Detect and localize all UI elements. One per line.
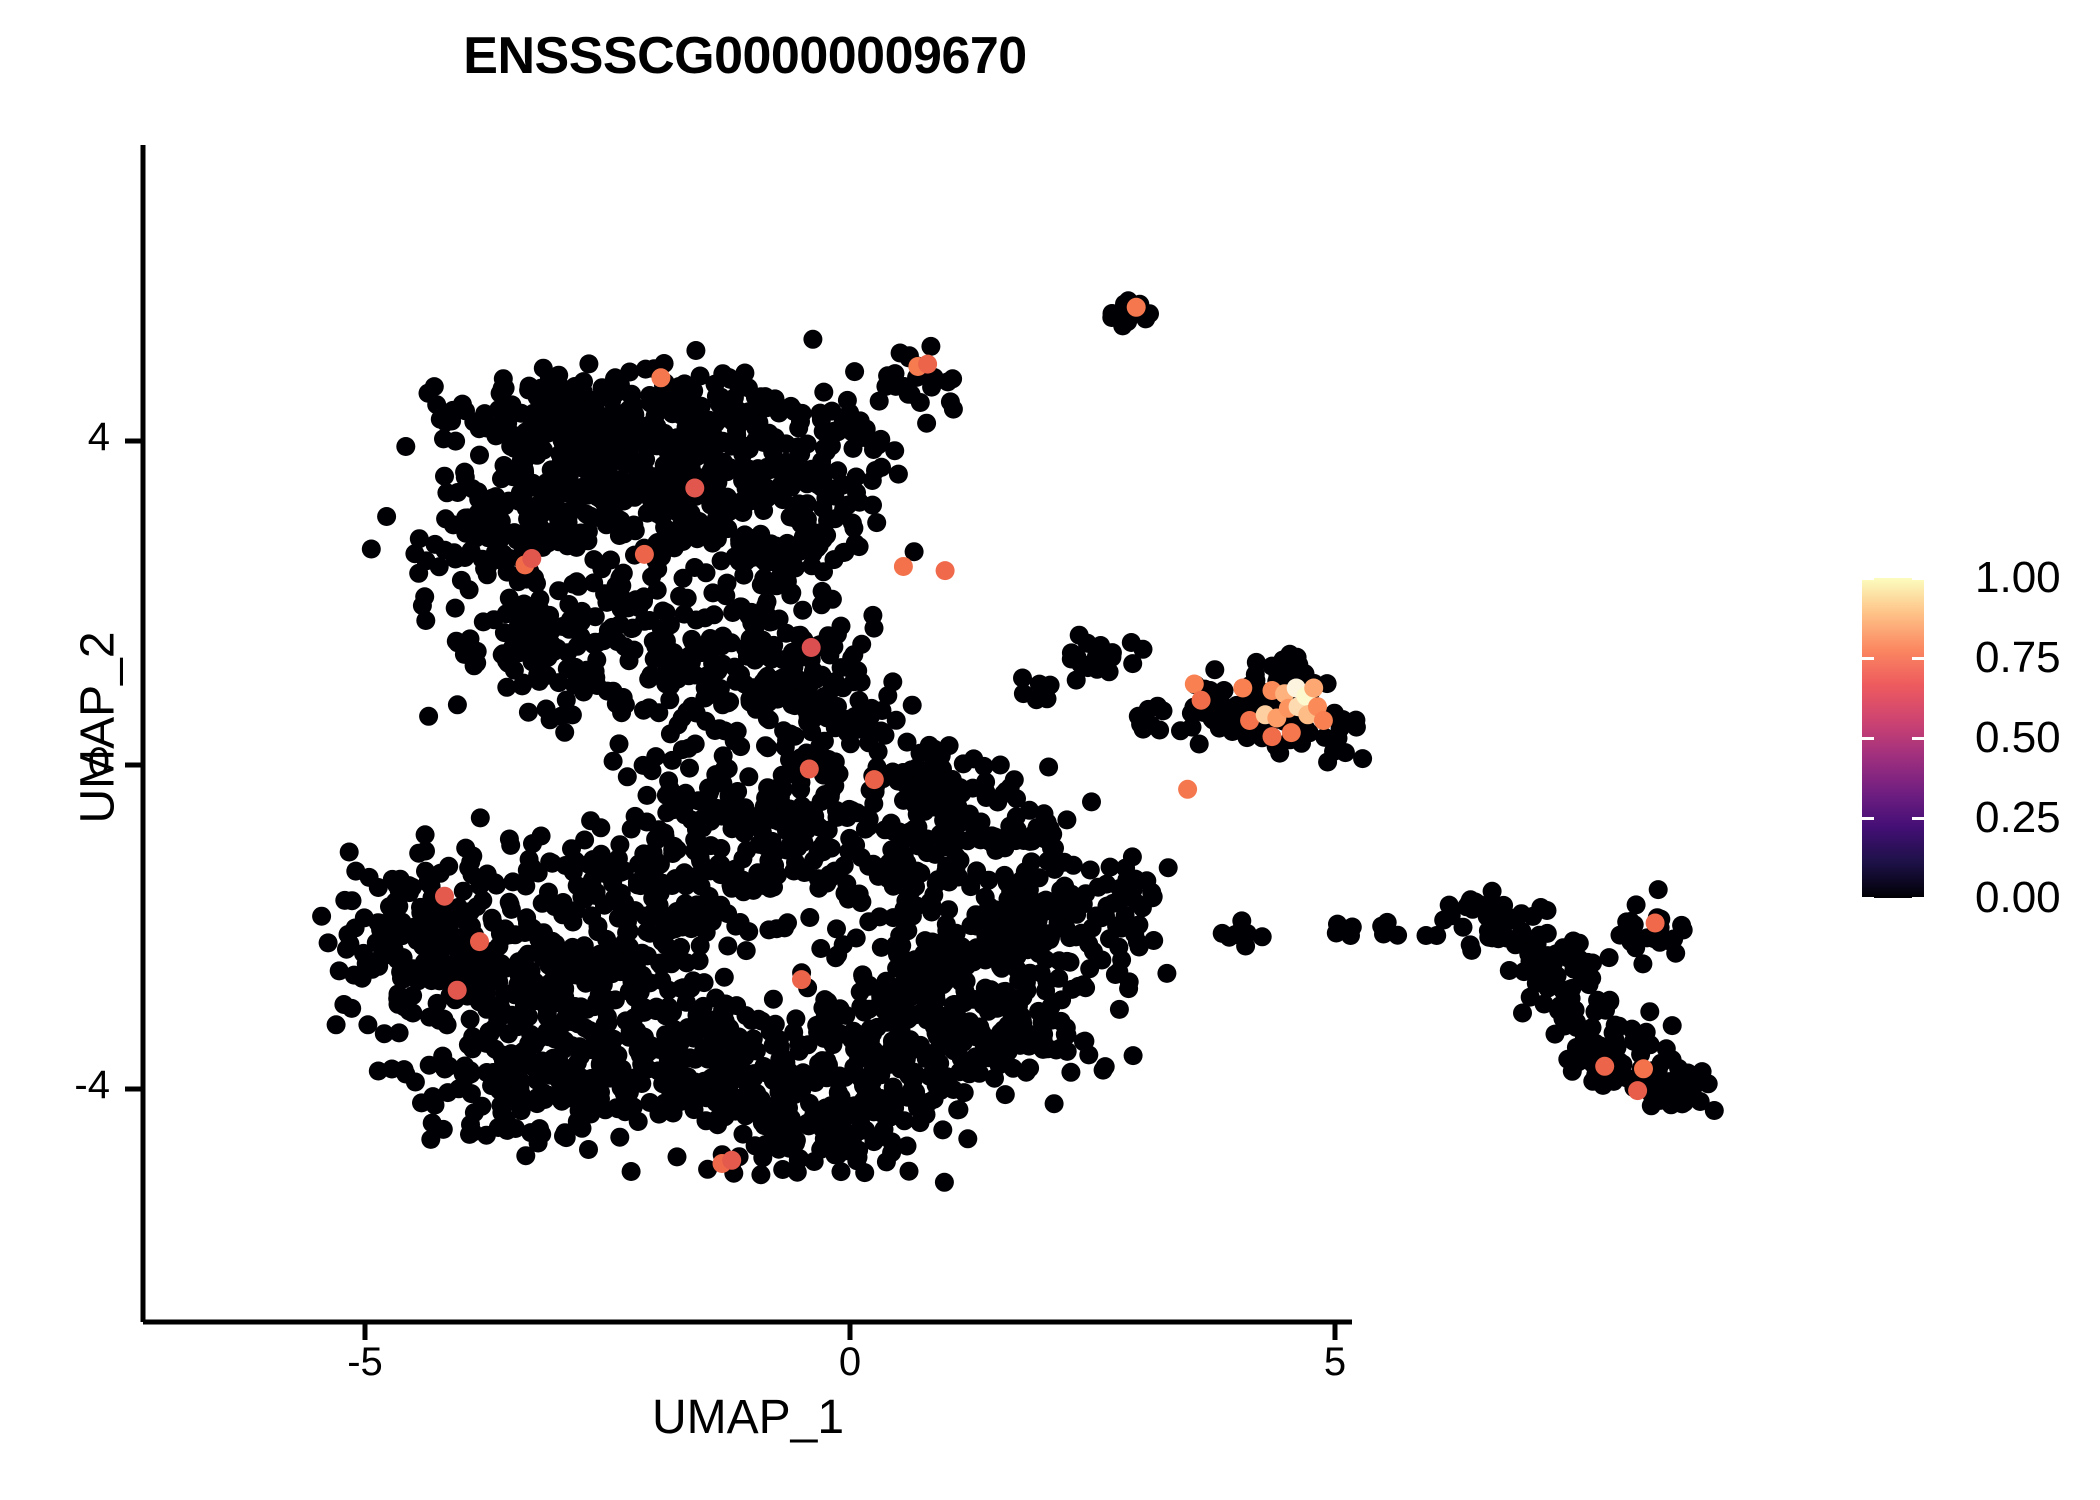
scatter-point (419, 707, 438, 726)
scatter-point (785, 469, 804, 488)
colorbar-tick-label: 0.75 (1975, 633, 2061, 683)
scatter-point (737, 1006, 756, 1025)
scatter-point (791, 444, 810, 463)
scatter-point (608, 632, 627, 651)
scatter-point (343, 891, 362, 910)
scatter-point (889, 1088, 908, 1107)
scatter-point (889, 465, 908, 484)
scatter-point-expressing (936, 561, 955, 580)
scatter-point (654, 874, 673, 893)
scatter-point (555, 723, 574, 742)
scatter-point (952, 937, 971, 956)
scatter-point (400, 876, 419, 895)
scatter-point (686, 423, 705, 442)
scatter-point (924, 886, 943, 905)
scatter-point (362, 540, 381, 559)
scatter-point (661, 446, 680, 465)
colorbar-tick-label: 0.25 (1975, 793, 2061, 843)
scatter-point (866, 461, 885, 480)
scatter-point (656, 827, 675, 846)
scatter-point (1376, 920, 1395, 939)
scatter-point (1600, 948, 1619, 967)
scatter-point (752, 1061, 771, 1080)
scatter-point (773, 1048, 792, 1067)
x-tick-label: -5 (285, 1340, 445, 1385)
scatter-point (758, 738, 777, 757)
scatter-point (856, 1121, 875, 1140)
scatter-point (578, 460, 597, 479)
scatter-point-expressing (802, 638, 821, 657)
scatter-point (795, 863, 814, 882)
scatter-point (1067, 905, 1086, 924)
colorbar-tick-label: 0.00 (1975, 873, 2061, 923)
scatter-point (420, 899, 439, 918)
scatter-point (781, 507, 800, 526)
scatter-point (815, 732, 834, 751)
scatter-point (565, 377, 584, 396)
scatter-point (1075, 928, 1094, 947)
scatter-point (495, 984, 514, 1003)
scatter-point (1021, 893, 1040, 912)
scatter-point (490, 501, 509, 520)
scatter-point (844, 1058, 863, 1077)
scatter-point (885, 441, 904, 460)
x-axis-title: UMAP_1 (143, 1390, 1353, 1445)
scatter-point (763, 1097, 782, 1116)
scatter-point (516, 1146, 535, 1165)
scatter-point (720, 406, 739, 425)
scatter-point (661, 676, 680, 695)
scatter-point (944, 400, 963, 419)
scatter-point (615, 1084, 634, 1103)
scatter-point (386, 892, 405, 911)
scatter-point (604, 752, 623, 771)
scatter-point (950, 1062, 969, 1081)
scatter-point (1617, 912, 1636, 931)
scatter-point (825, 422, 844, 441)
scatter-point (891, 344, 910, 363)
scatter-point (968, 948, 987, 967)
scatter-point (563, 938, 582, 957)
scatter-point (1034, 1024, 1053, 1043)
scatter-point (674, 569, 693, 588)
scatter-point (638, 504, 657, 523)
scatter-point (859, 857, 878, 876)
scatter-point (694, 997, 713, 1016)
scatter-point (416, 825, 435, 844)
scatter-point (620, 363, 639, 382)
scatter-point (1117, 871, 1136, 890)
scatter-point (618, 767, 637, 786)
scatter-point (770, 610, 789, 629)
scatter-point (1427, 926, 1446, 945)
scatter-point (1159, 858, 1178, 877)
scatter-point (855, 1003, 874, 1022)
scatter-point (1128, 894, 1147, 913)
scatter-point (1103, 304, 1122, 323)
scatter-point (388, 989, 407, 1008)
scatter-point (427, 395, 446, 414)
scatter-point (500, 893, 519, 912)
scatter-point (759, 920, 778, 939)
scatter-point (876, 726, 895, 745)
scatter-point (515, 430, 534, 449)
scatter-point (1527, 931, 1546, 950)
scatter-point (1112, 950, 1131, 969)
scatter-point (486, 873, 505, 892)
scatter-point (436, 509, 455, 528)
scatter-point (1605, 1030, 1624, 1049)
colorbar-tick-mark (1862, 817, 1874, 820)
scatter-point (634, 756, 653, 775)
scatter-point (661, 724, 680, 743)
scatter-point (637, 464, 656, 483)
scatter-point (358, 1015, 377, 1034)
scatter-point (817, 1111, 836, 1130)
scatter-point (620, 651, 639, 670)
scatter-point (839, 890, 858, 909)
scatter-point (732, 499, 751, 518)
scatter-point (396, 437, 415, 456)
scatter-point (745, 619, 764, 638)
scatter-point (434, 429, 453, 448)
scatter-point-expressing (470, 932, 489, 951)
scatter-point (886, 377, 905, 396)
scatter-point (942, 957, 961, 976)
scatter-point (319, 933, 338, 952)
scatter-point (1582, 969, 1601, 988)
scatter-point (833, 476, 852, 495)
scatter-point (793, 601, 812, 620)
scatter-point (922, 903, 941, 922)
scatter-point (638, 946, 657, 965)
scatter-point (506, 1119, 525, 1138)
scatter-point (684, 1029, 703, 1048)
scatter-point (371, 920, 390, 939)
scatter-point (543, 1058, 562, 1077)
scatter-point (758, 667, 777, 686)
scatter-point (807, 1065, 826, 1084)
scatter-point (778, 913, 797, 932)
scatter-point (1341, 926, 1360, 945)
scatter-point (859, 912, 878, 931)
scatter-point (708, 529, 727, 548)
scatter-point-expressing (894, 557, 913, 576)
scatter-point (652, 971, 671, 990)
scatter-point (459, 858, 478, 877)
scatter-point (832, 1162, 851, 1181)
scatter-point (856, 975, 875, 994)
scatter-point (548, 373, 567, 392)
scatter-point (454, 882, 473, 901)
scatter-point (610, 734, 629, 753)
scatter-point (771, 784, 790, 803)
scatter-point (1036, 950, 1055, 969)
scatter-point (844, 645, 863, 664)
scatter-point (922, 945, 941, 964)
scatter-point (903, 696, 922, 715)
colorbar-tick-mark (1862, 657, 1874, 660)
scatter-point (625, 405, 644, 424)
scatter-point (711, 839, 730, 858)
scatter-point-expressing (1634, 1059, 1653, 1078)
scatter-point (686, 341, 705, 360)
scatter-point (593, 378, 612, 397)
scatter-point (865, 619, 884, 638)
scatter-point (530, 1029, 549, 1048)
scatter-point (880, 853, 899, 872)
x-tick-label: 0 (770, 1340, 930, 1385)
scatter-point (679, 739, 698, 758)
scatter-point-expressing (918, 355, 937, 374)
scatter-point (555, 483, 574, 502)
scatter-point (1624, 1032, 1643, 1051)
scatter-point (532, 827, 551, 846)
scatter-point (844, 662, 863, 681)
scatter-point-expressing (800, 760, 819, 779)
scatter-point (472, 497, 491, 516)
scatter-point (488, 953, 507, 972)
scatter-point (445, 543, 464, 562)
scatter-point (622, 820, 641, 839)
scatter-point (1205, 660, 1224, 679)
scatter-point (1061, 1063, 1080, 1082)
scatter-point (834, 543, 853, 562)
scatter-point (1027, 690, 1046, 709)
scatter-point (887, 959, 906, 978)
scatter-point (627, 988, 646, 1007)
scatter-point (731, 597, 750, 616)
scatter-point (894, 791, 913, 810)
scatter-point (1559, 980, 1578, 999)
scatter-point (895, 1111, 914, 1130)
scatter-point (584, 550, 603, 569)
scatter-point (696, 712, 715, 731)
scatter-point (791, 780, 810, 799)
scatter-point (967, 861, 986, 880)
scatter-point (803, 330, 822, 349)
scatter-point (589, 917, 608, 936)
scatter-point (528, 407, 547, 426)
scatter-point (446, 599, 465, 618)
scatter-point (726, 1102, 745, 1121)
scatter-point-expressing (722, 1151, 741, 1170)
scatter-point (639, 670, 658, 689)
scatter-point (342, 999, 361, 1018)
scatter-point (722, 876, 741, 895)
scatter-point (623, 619, 642, 638)
scatter-point (1523, 907, 1542, 926)
scatter-points-layer (312, 291, 1724, 1192)
scatter-point (1064, 856, 1083, 875)
scatter-point (872, 938, 891, 957)
scatter-point (1190, 735, 1209, 754)
scatter-point (641, 483, 660, 502)
scatter-point (764, 990, 783, 1009)
scatter-point (758, 709, 777, 728)
scatter-point-expressing (1628, 1081, 1647, 1100)
scatter-point (452, 571, 471, 590)
scatter-point (1017, 980, 1036, 999)
scatter-point-expressing (865, 770, 884, 789)
scatter-point (718, 937, 737, 956)
scatter-point (843, 514, 862, 533)
scatter-point (1627, 895, 1646, 914)
scatter-point (499, 549, 518, 568)
scatter-point (682, 630, 701, 649)
scatter-point (1057, 1018, 1076, 1037)
colorbar-tick-mark (1862, 737, 1874, 740)
scatter-point (786, 1134, 805, 1153)
scatter-point (1061, 953, 1080, 972)
scatter-point (734, 377, 753, 396)
scatter-point (566, 852, 585, 871)
scatter-point (641, 924, 660, 943)
scatter-point (1134, 640, 1153, 659)
scatter-point (731, 913, 750, 932)
scatter-point (933, 975, 952, 994)
scatter-point (596, 474, 615, 493)
scatter-point (692, 877, 711, 896)
scatter-point (781, 586, 800, 605)
scatter-point (1070, 626, 1089, 645)
scatter-point-expressing (1233, 679, 1252, 698)
scatter-point-expressing (1127, 298, 1146, 317)
scatter-point (495, 456, 514, 475)
scatter-point (935, 1173, 954, 1192)
scatter-point (502, 1044, 521, 1063)
scatter-point (705, 1039, 724, 1058)
scatter-point (424, 962, 443, 981)
scatter-point (991, 756, 1010, 775)
scatter-point (1247, 653, 1266, 672)
scatter-point (612, 884, 631, 903)
scatter-point (491, 525, 510, 544)
scatter-point (537, 997, 556, 1016)
scatter-point (898, 733, 917, 752)
scatter-point (670, 587, 689, 606)
scatter-point (360, 868, 379, 887)
scatter-point (622, 1162, 641, 1181)
scatter-point (679, 657, 698, 676)
scatter-point (629, 1112, 648, 1131)
scatter-point (817, 708, 836, 727)
scatter-point (1440, 896, 1459, 915)
scatter-point (926, 798, 945, 817)
scatter-point (917, 414, 936, 433)
scatter-point (995, 866, 1014, 885)
scatter-point (678, 793, 697, 812)
scatter-point (597, 990, 616, 1009)
scatter-point (667, 383, 686, 402)
scatter-point (579, 1140, 598, 1159)
scatter-point (519, 703, 538, 722)
scatter-point (813, 998, 832, 1017)
scatter-point (460, 1125, 479, 1144)
colorbar-gradient (1862, 578, 1924, 898)
scatter-point (1020, 832, 1039, 851)
scatter-point (606, 442, 625, 461)
scatter-point (416, 611, 435, 630)
scatter-point (586, 662, 605, 681)
scatter-point (1633, 954, 1652, 973)
scatter-point (439, 1057, 458, 1076)
scatter-point (1673, 1094, 1692, 1113)
scatter-point (543, 854, 562, 873)
scatter-point (507, 528, 526, 547)
scatter-point (489, 400, 508, 419)
scatter-point (447, 632, 466, 651)
scatter-point-expressing (792, 970, 811, 989)
scatter-point-expressing (1263, 727, 1282, 746)
scatter-point (742, 546, 761, 565)
scatter-point (572, 612, 591, 631)
scatter-point (440, 918, 459, 937)
scatter-point (847, 1151, 866, 1170)
scatter-point (628, 873, 647, 892)
scatter-point (417, 918, 436, 937)
scatter-point (1037, 972, 1056, 991)
scatter-point-expressing (1178, 780, 1197, 799)
scatter-point (1511, 926, 1530, 945)
scatter-point (425, 377, 444, 396)
scatter-point (751, 431, 770, 450)
scatter-point (391, 963, 410, 982)
scatter-point (827, 919, 846, 938)
scatter-point (423, 1087, 442, 1106)
scatter-point (671, 938, 690, 957)
scatter-point (579, 354, 598, 373)
scatter-point (516, 948, 535, 967)
scatter-point (911, 1036, 930, 1055)
scatter-point (878, 686, 897, 705)
scatter-point (442, 957, 461, 976)
scatter-point (1253, 927, 1272, 946)
scatter-point (437, 483, 456, 502)
scatter-point (587, 883, 606, 902)
scatter-point (642, 1036, 661, 1055)
scatter-point (996, 1085, 1015, 1104)
scatter-point (958, 1129, 977, 1148)
scatter-point (802, 556, 821, 575)
scatter-point (438, 1015, 457, 1034)
scatter-point (821, 868, 840, 887)
scatter-point (395, 1060, 414, 1079)
colorbar-tick-mark (1862, 577, 1874, 580)
scatter-point (591, 421, 610, 440)
scatter-point (665, 538, 684, 557)
scatter-point (1038, 852, 1057, 871)
scatter-point (569, 577, 588, 596)
scatter-point (591, 818, 610, 837)
scatter-point (1074, 975, 1093, 994)
scatter-point (647, 1001, 666, 1020)
scatter-point (769, 1140, 788, 1159)
scatter-point-expressing (435, 887, 454, 906)
scatter-point (744, 646, 763, 665)
scatter-point (667, 428, 686, 447)
scatter-point-expressing (635, 545, 654, 564)
scatter-point (960, 805, 979, 824)
scatter-point (770, 1030, 789, 1049)
scatter-point (456, 839, 475, 858)
scatter-point (1326, 729, 1345, 748)
scatter-point (798, 515, 817, 534)
scatter-point (1045, 1094, 1064, 1113)
scatter-point (602, 505, 621, 524)
scatter-point (1596, 1001, 1615, 1020)
scatter-point (680, 759, 699, 778)
